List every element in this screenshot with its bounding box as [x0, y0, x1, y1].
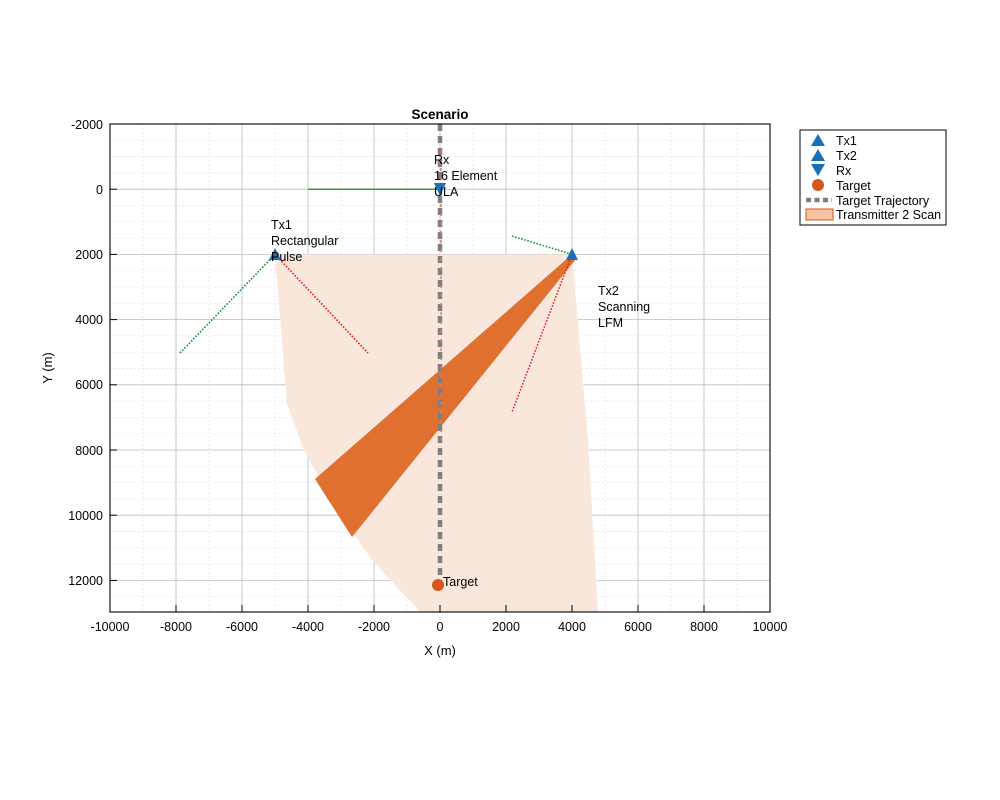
x-tick-label: 8000 [690, 620, 718, 634]
y-tick-label: 12000 [68, 574, 103, 588]
x-tick-label: -8000 [160, 620, 192, 634]
x-tick-label: -4000 [292, 620, 324, 634]
legend: Tx1 Tx2 Rx Target Target Trajectory Tran… [800, 130, 946, 225]
scenario-plot: Tx1 Rectangular Pulse Tx2 Scanning LFM R… [0, 0, 1000, 800]
y-tick-label: 0 [96, 183, 103, 197]
x-axis-label: X (m) [424, 643, 456, 658]
x-tick-label: 4000 [558, 620, 586, 634]
tx1-annotation-line1: Tx1 [271, 218, 292, 232]
tx2-annotation-line3: LFM [598, 316, 623, 330]
y-tick-label: 4000 [75, 313, 103, 327]
rx-annotation-line2: 16 Element [434, 169, 498, 183]
x-tick-label: 6000 [624, 620, 652, 634]
y-tick-label: 8000 [75, 444, 103, 458]
x-tick-label: 2000 [492, 620, 520, 634]
legend-scan-patch-icon [806, 209, 833, 220]
y-tick-label: -2000 [71, 118, 103, 132]
rx-annotation-line1: Rx [434, 153, 450, 167]
tx2-annotation-line2: Scanning [598, 300, 650, 314]
y-tick-label: 2000 [75, 248, 103, 262]
figure-root: Tx1 Rectangular Pulse Tx2 Scanning LFM R… [0, 0, 1000, 800]
legend-label-rx: Rx [836, 164, 852, 178]
x-tick-label: -10000 [91, 620, 130, 634]
legend-label-target: Target [836, 179, 871, 193]
x-tick-label: -2000 [358, 620, 390, 634]
y-tick-label: 6000 [75, 378, 103, 392]
legend-label-tx2: Tx2 [836, 149, 857, 163]
legend-target-marker-icon [812, 179, 824, 191]
tx1-annotation-line3: Pulse [271, 250, 302, 264]
legend-label-tx1: Tx1 [836, 134, 857, 148]
x-tick-label: 0 [437, 620, 444, 634]
x-tick-label: -6000 [226, 620, 258, 634]
y-tick-label: 10000 [68, 509, 103, 523]
tx2-annotation-line1: Tx2 [598, 284, 619, 298]
tx1-annotation-line2: Rectangular [271, 234, 338, 248]
legend-label-transmitter-2-scan: Transmitter 2 Scan [836, 208, 941, 222]
y-axis-label: Y (m) [40, 352, 55, 384]
legend-label-target-trajectory: Target Trajectory [836, 194, 930, 208]
target-annotation: Target [443, 575, 478, 589]
page-title: Scenario [411, 107, 468, 122]
rx-annotation-line3: ULA [434, 185, 459, 199]
x-tick-label: 10000 [753, 620, 788, 634]
